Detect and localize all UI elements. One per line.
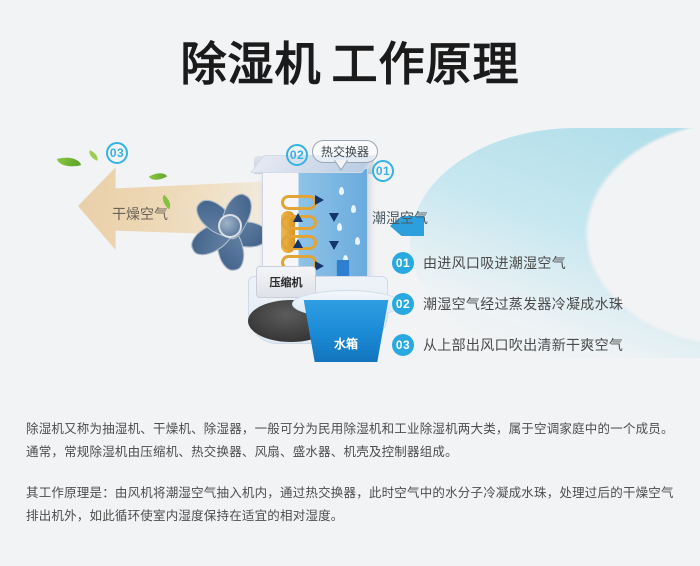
page-title-main: 除湿机 [181, 38, 322, 90]
coil-pipe [281, 195, 317, 210]
page-title: 除湿机工作原理 [0, 28, 700, 94]
badge-02: 02 [286, 144, 308, 166]
water-droplet-icon [339, 187, 344, 195]
description-paragraph-2: 其工作原理是：由风机将潮湿空气抽入机内，通过热交换器，此时空气中的水分子冷凝成水… [26, 482, 676, 528]
water-droplet-icon [337, 223, 342, 231]
legend-item: 01 由进风口吸进潮湿空气 [392, 252, 692, 274]
compressor-label: 压缩机 [270, 274, 303, 290]
flow-arrow-up-icon [293, 213, 303, 222]
flow-arrow-down-icon [329, 213, 339, 222]
water-droplet-icon [351, 205, 356, 213]
diagram-mark-02: 02 [286, 144, 308, 166]
water-tank-part: 水箱 [300, 300, 392, 362]
legend-text-01: 由进风口吸进潮湿空气 [423, 253, 566, 273]
legend-badge-02: 02 [392, 293, 414, 315]
diagram-caption-humid-air: 潮湿空气 [372, 208, 428, 228]
infographic-page: 除湿机工作原理 [0, 0, 700, 566]
flow-arrow-right-icon [315, 195, 324, 205]
leaf-icon [57, 154, 81, 171]
flow-arrow-down-icon [329, 241, 339, 250]
description-paragraph-1: 除湿机又称为抽湿机、干燥机、除湿器，一般可分为民用除湿机和工业除湿机两大类，属于… [26, 418, 676, 464]
legend-text-03: 从上部出风口吹出清新干爽空气 [423, 335, 623, 355]
leaf-icon [149, 169, 167, 185]
legend-text-02: 潮湿空气经过蒸发器冷凝成水珠 [423, 294, 623, 314]
water-tank-label: 水箱 [334, 335, 358, 352]
legend-badge-03: 03 [392, 334, 414, 356]
flow-arrow-up-icon [293, 239, 303, 248]
diagram-mark-01: 01 [372, 160, 394, 182]
water-droplet-icon [355, 237, 360, 245]
heat-exchanger-core [262, 168, 368, 280]
legend-item: 02 潮湿空气经过蒸发器冷凝成水珠 [392, 293, 692, 315]
diagram-mark-03: 03 [106, 142, 128, 164]
diagram-caption-dry-air: 干燥空气 [112, 204, 168, 224]
legend-badge-01: 01 [392, 252, 414, 274]
badge-01: 01 [372, 160, 394, 182]
badge-03: 03 [106, 142, 128, 164]
callout-pointer-icon [334, 160, 348, 171]
dehumidifier-illustration: 压缩机 水箱 [248, 150, 388, 380]
legend-item: 03 从上部出风口吹出清新干爽空气 [392, 334, 692, 356]
flow-arrow-right-icon [315, 261, 324, 271]
fan-hub [218, 214, 242, 238]
page-title-sub: 工作原理 [332, 38, 520, 90]
leaf-icon [87, 150, 100, 161]
description-block: 除湿机又称为抽湿机、干燥机、除湿器，一般可分为民用除湿机和工业除湿机两大类，属于… [26, 418, 676, 546]
legend-list: 01 由进风口吸进潮湿空气 02 潮湿空气经过蒸发器冷凝成水珠 03 从上部出风… [392, 252, 692, 375]
